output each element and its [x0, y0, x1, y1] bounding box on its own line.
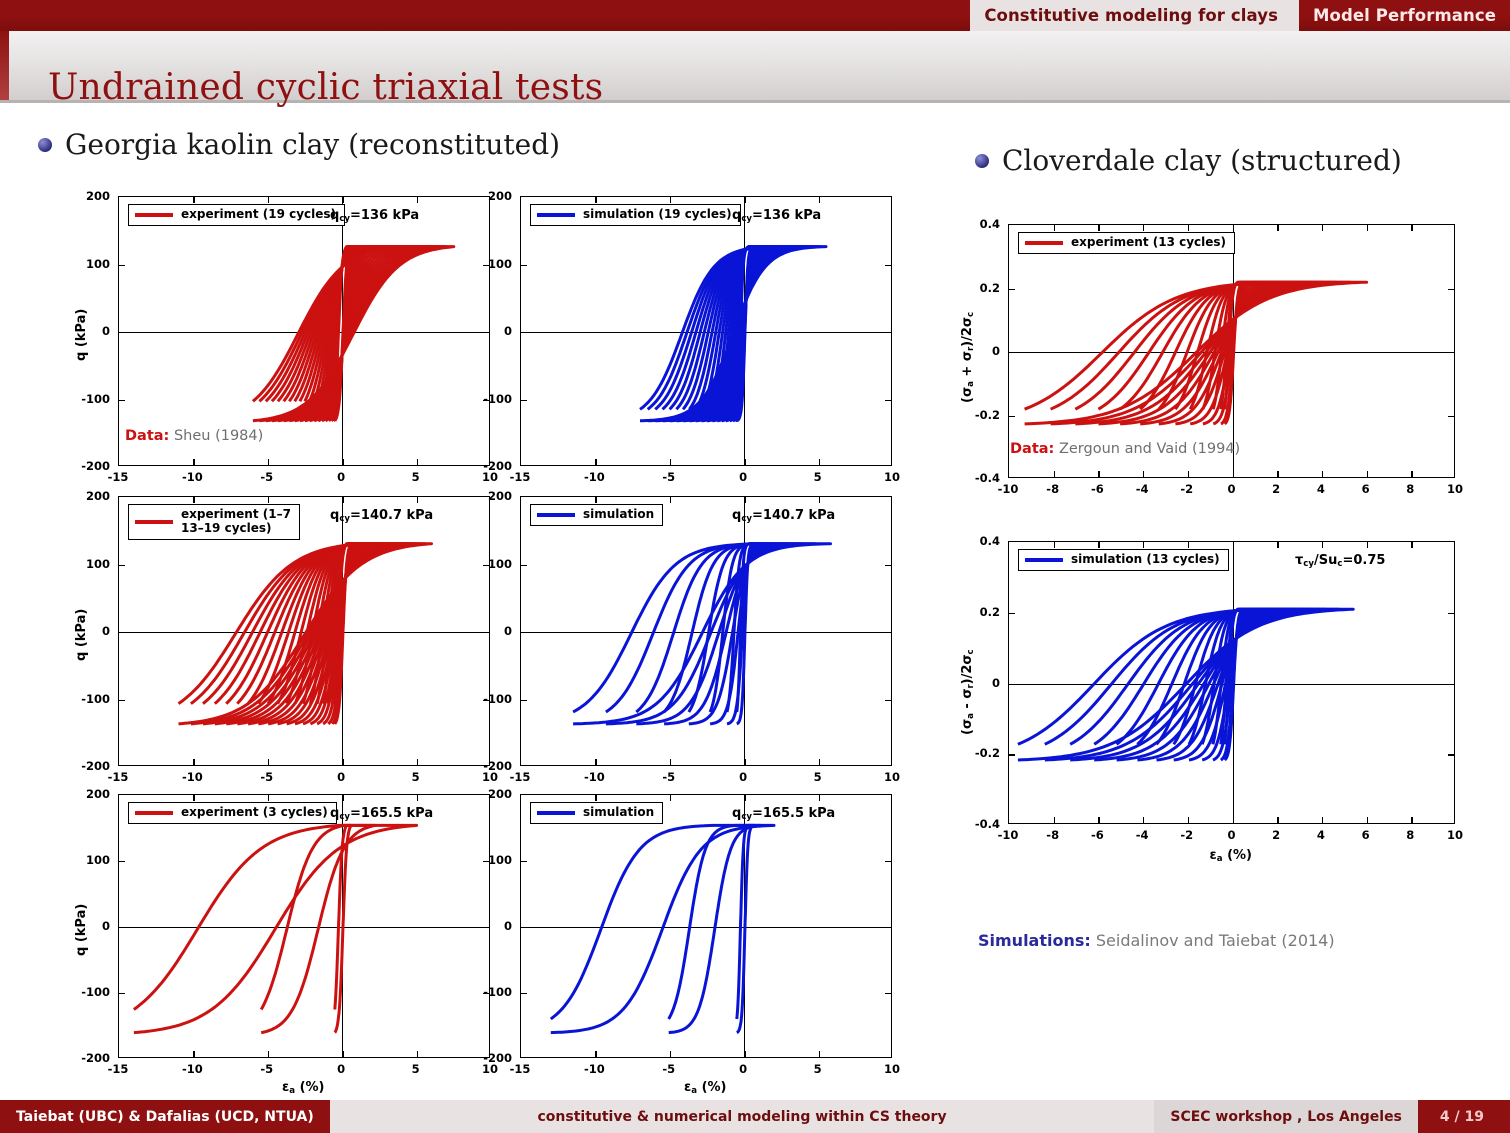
- plot-axes-georgia-sim-2: [520, 496, 892, 766]
- y-tick-label: 200: [86, 489, 110, 503]
- x-tick-label: -15: [108, 1062, 129, 1076]
- legend-cloverdale-sim: simulation (13 cycles): [1018, 549, 1229, 571]
- x-tick-label: 2: [1272, 482, 1280, 496]
- bullet-georgia-kaolin: Georgia kaolin clay (reconstituted): [38, 128, 560, 161]
- plot-axes-georgia-sim-3: [520, 794, 892, 1058]
- y-tick-label: -0.2: [975, 746, 1000, 760]
- slide-title-bar: Undrained cyclic triaxial tests: [0, 31, 1510, 103]
- legend-color-swatch: [1025, 241, 1063, 245]
- y-tick-label: 100: [488, 557, 512, 571]
- plot-axes-georgia-exp-3: [118, 794, 490, 1058]
- data-note-value: Sheu (1984): [174, 428, 263, 444]
- x-tick-label: -4: [1136, 828, 1149, 842]
- x-tick-label: 0: [739, 470, 747, 484]
- x-tick-label: -8: [1046, 482, 1059, 496]
- y-tick-label: -100: [81, 392, 110, 406]
- y-tick-label: 0.2: [980, 605, 1000, 619]
- bullet-georgia-label: Georgia kaolin clay (reconstituted): [65, 128, 560, 161]
- x-tick-label: -5: [662, 470, 675, 484]
- x-tick-label: 5: [412, 770, 420, 784]
- x-axis-title-strain: εa (%): [282, 1080, 324, 1096]
- y-tick-label: 0.2: [980, 281, 1000, 295]
- legend-label: simulation (19 cycles): [583, 208, 732, 222]
- annotation-georgia-exp-3: qcy=165.5 kPa: [330, 806, 433, 822]
- y-tick-label: -200: [81, 1051, 110, 1065]
- y-tick-label: 200: [488, 787, 512, 801]
- footer-authors-label: Taiebat (UBC) & Dafalias (UCD, NTUA): [16, 1109, 314, 1125]
- x-tick-label: -10: [998, 828, 1019, 842]
- plot-axes-georgia-exp-1: [118, 196, 490, 466]
- data-note-value: Zergoun and Vaid (1994): [1059, 441, 1240, 457]
- data-note-label: Data:: [1010, 441, 1054, 457]
- x-tick-label: -8: [1046, 828, 1059, 842]
- bullet-dot-icon: [38, 138, 52, 152]
- y-tick-label: 0: [504, 919, 512, 933]
- x-tick-label: -10: [584, 1062, 605, 1076]
- x-tick-label: 4: [1317, 482, 1325, 496]
- x-tick-label: -15: [510, 1062, 531, 1076]
- x-tick-label: -5: [260, 1062, 273, 1076]
- bullet-cloverdale-label: Cloverdale clay (structured): [1002, 144, 1402, 177]
- y-tick-label: -0.4: [975, 817, 1000, 831]
- footer-venue-label: SCEC workshop , Los Angeles: [1170, 1109, 1402, 1125]
- x-tick-label: 4: [1317, 828, 1325, 842]
- y-tick-label: 0: [992, 676, 1000, 690]
- y-tick-label: 0: [504, 624, 512, 638]
- x-tick-label: -10: [998, 482, 1019, 496]
- y-tick-label: -0.4: [975, 471, 1000, 485]
- x-tick-label: -6: [1091, 482, 1104, 496]
- footer-subject: constitutive & numerical modeling within…: [330, 1100, 1155, 1133]
- tab-model-performance-label: Model Performance: [1313, 6, 1496, 25]
- annotation-georgia-sim-2: qcy=140.7 kPa: [732, 508, 835, 524]
- tab-constitutive-modeling-label: Constitutive modeling for clays: [984, 6, 1278, 25]
- tab-separator: [1292, 0, 1299, 31]
- y-tick-label: 200: [488, 489, 512, 503]
- x-tick-label: 0: [337, 770, 345, 784]
- x-tick-label: -15: [108, 770, 129, 784]
- x-tick-label: 8: [1406, 828, 1414, 842]
- x-tick-label: 10: [884, 1062, 900, 1076]
- y-tick-label: -100: [483, 692, 512, 706]
- y-tick-label: -200: [81, 759, 110, 773]
- x-tick-label: 5: [814, 1062, 822, 1076]
- y-tick-label: -100: [483, 392, 512, 406]
- legend-georgia-exp-1: experiment (19 cycles): [128, 204, 345, 226]
- y-tick-label: 0.4: [980, 217, 1000, 231]
- legend-label: simulation: [583, 508, 654, 522]
- footer-authors: Taiebat (UBC) & Dafalias (UCD, NTUA): [0, 1100, 330, 1133]
- x-tick-label: -10: [584, 470, 605, 484]
- x-tick-label: 5: [412, 470, 420, 484]
- y-tick-label: 200: [86, 189, 110, 203]
- y-tick-label: -200: [483, 1051, 512, 1065]
- x-tick-label: 10: [1447, 828, 1463, 842]
- navigation-bar: Constitutive modeling for clays Model Pe…: [0, 0, 1510, 31]
- y-tick-label: -100: [81, 692, 110, 706]
- y-tick-label: 0: [102, 324, 110, 338]
- y-axis-title-q: q (kPa): [74, 609, 89, 661]
- x-tick-label: -10: [182, 770, 203, 784]
- x-tick-label: 2: [1272, 828, 1280, 842]
- plot-curves-cloverdale-sim: [1009, 542, 1456, 825]
- plot-curves-georgia-sim-1: [521, 197, 893, 467]
- x-tick-label: -10: [182, 470, 203, 484]
- x-axis-title-strain: εa (%): [684, 1080, 726, 1096]
- legend-color-swatch: [537, 213, 575, 217]
- legend-label: experiment (19 cycles): [181, 208, 336, 222]
- y-tick-label: 0: [504, 324, 512, 338]
- x-tick-label: -2: [1180, 828, 1193, 842]
- section-tabs: Constitutive modeling for clays Model Pe…: [970, 0, 1510, 31]
- legend-label: experiment (13 cycles): [1071, 236, 1226, 250]
- y-tick-label: 100: [86, 853, 110, 867]
- legend-color-swatch: [135, 520, 173, 524]
- x-tick-label: 5: [814, 770, 822, 784]
- y-tick-label: 0: [992, 344, 1000, 358]
- legend-cloverdale-exp: experiment (13 cycles): [1018, 232, 1235, 254]
- x-tick-label: -5: [662, 1062, 675, 1076]
- y-tick-label: 0.4: [980, 534, 1000, 548]
- x-tick-label: 0: [739, 1062, 747, 1076]
- y-tick-label: -200: [81, 459, 110, 473]
- data-note-sheu: Data: Sheu (1984): [125, 428, 263, 444]
- legend-georgia-sim-3: simulation: [530, 802, 663, 824]
- simulations-note-value: Seidalinov and Taiebat (2014): [1096, 931, 1335, 950]
- tab-constitutive-modeling[interactable]: Constitutive modeling for clays: [970, 0, 1292, 31]
- x-tick-label: -15: [510, 770, 531, 784]
- x-tick-label: 6: [1362, 828, 1370, 842]
- x-tick-label: 8: [1406, 482, 1414, 496]
- legend-color-swatch: [1025, 558, 1063, 562]
- x-tick-label: 0: [1227, 482, 1235, 496]
- x-tick-label: -5: [662, 770, 675, 784]
- x-tick-label: -6: [1091, 828, 1104, 842]
- footer-page-label: 4 / 19: [1440, 1109, 1484, 1125]
- x-tick-label: 6: [1362, 482, 1370, 496]
- x-tick-label: 0: [1227, 828, 1235, 842]
- bullet-cloverdale-clay: Cloverdale clay (structured): [975, 144, 1402, 177]
- annotation-cloverdale-sim: τcy/Suc=0.75: [1295, 553, 1385, 569]
- legend-color-swatch: [135, 811, 173, 815]
- x-tick-label: 10: [884, 770, 900, 784]
- plot-curves-georgia-sim-3: [521, 795, 893, 1059]
- x-tick-label: 5: [412, 1062, 420, 1076]
- y-tick-label: -100: [483, 985, 512, 999]
- y-tick-label: 0: [102, 624, 110, 638]
- footer-venue: SCEC workshop , Los Angeles: [1154, 1100, 1418, 1133]
- slide-footer: Taiebat (UBC) & Dafalias (UCD, NTUA) con…: [0, 1100, 1510, 1133]
- y-tick-label: 100: [86, 257, 110, 271]
- x-tick-label: -2: [1180, 482, 1193, 496]
- y-tick-label: 100: [86, 557, 110, 571]
- legend-color-swatch: [135, 213, 173, 217]
- annotation-georgia-sim-3: qcy=165.5 kPa: [732, 806, 835, 822]
- x-tick-label: -10: [182, 1062, 203, 1076]
- tab-model-performance[interactable]: Model Performance: [1299, 0, 1510, 31]
- y-axis-title-q: q (kPa): [74, 309, 89, 361]
- x-tick-label: 10: [1447, 482, 1463, 496]
- data-note-label: Data:: [125, 428, 169, 444]
- simulations-note: Simulations: Seidalinov and Taiebat (201…: [978, 931, 1335, 950]
- page-title: Undrained cyclic triaxial tests: [48, 67, 603, 108]
- legend-georgia-exp-3: experiment (3 cycles): [128, 802, 337, 824]
- plot-axes-georgia-sim-1: [520, 196, 892, 466]
- y-tick-label: 0: [102, 919, 110, 933]
- legend-georgia-sim-2: simulation: [530, 504, 663, 526]
- x-tick-label: 0: [337, 1062, 345, 1076]
- legend-georgia-sim-1: simulation (19 cycles): [530, 204, 741, 226]
- y-tick-label: 100: [488, 257, 512, 271]
- annotation-georgia-exp-2: qcy=140.7 kPa: [330, 508, 433, 524]
- plot-curves-georgia-exp-1: [119, 197, 491, 467]
- legend-color-swatch: [537, 811, 575, 815]
- y-axis-title-q: q (kPa): [74, 904, 89, 956]
- x-tick-label: -5: [260, 470, 273, 484]
- y-tick-label: -100: [81, 985, 110, 999]
- bullet-dot-icon: [975, 154, 989, 168]
- x-tick-label: 0: [337, 470, 345, 484]
- legend-georgia-exp-2: experiment (1–713–19 cycles): [128, 504, 300, 540]
- legend-label: experiment (1–713–19 cycles): [181, 508, 291, 536]
- x-tick-label: 5: [814, 470, 822, 484]
- plot-axes-cloverdale-exp: [1008, 224, 1455, 478]
- y-tick-label: 200: [86, 787, 110, 801]
- y-tick-label: 200: [488, 189, 512, 203]
- legend-label: experiment (3 cycles): [181, 806, 328, 820]
- y-axis-title-dev-stress: (σa - σr)/2σc: [960, 649, 976, 735]
- plot-curves-georgia-sim-2: [521, 497, 893, 767]
- x-tick-label: -15: [108, 470, 129, 484]
- annotation-georgia-exp-1: qcy=136 kPa: [330, 208, 419, 224]
- plot-curves-georgia-exp-3: [119, 795, 491, 1059]
- x-tick-label: 10: [884, 470, 900, 484]
- y-tick-label: -200: [483, 759, 512, 773]
- legend-color-swatch: [537, 513, 575, 517]
- legend-label: simulation (13 cycles): [1071, 553, 1220, 567]
- footer-subject-label: constitutive & numerical modeling within…: [538, 1109, 947, 1125]
- y-tick-label: -0.2: [975, 408, 1000, 422]
- legend-label: simulation: [583, 806, 654, 820]
- simulations-note-label: Simulations:: [978, 931, 1091, 950]
- x-axis-title-strain: εa (%): [1210, 848, 1252, 864]
- annotation-georgia-sim-1: qcy=136 kPa: [732, 208, 821, 224]
- x-tick-label: -10: [584, 770, 605, 784]
- x-tick-label: 0: [739, 770, 747, 784]
- y-tick-label: 100: [488, 853, 512, 867]
- plot-axes-cloverdale-sim: [1008, 541, 1455, 824]
- y-axis-title-mean-stress: (σa + σr)/2σc: [960, 312, 976, 403]
- x-tick-label: -5: [260, 770, 273, 784]
- x-tick-label: -4: [1136, 482, 1149, 496]
- footer-page-number: 4 / 19: [1418, 1100, 1510, 1133]
- x-tick-label: -15: [510, 470, 531, 484]
- data-note-zergoun: Data: Zergoun and Vaid (1994): [1010, 441, 1240, 457]
- y-tick-label: -200: [483, 459, 512, 473]
